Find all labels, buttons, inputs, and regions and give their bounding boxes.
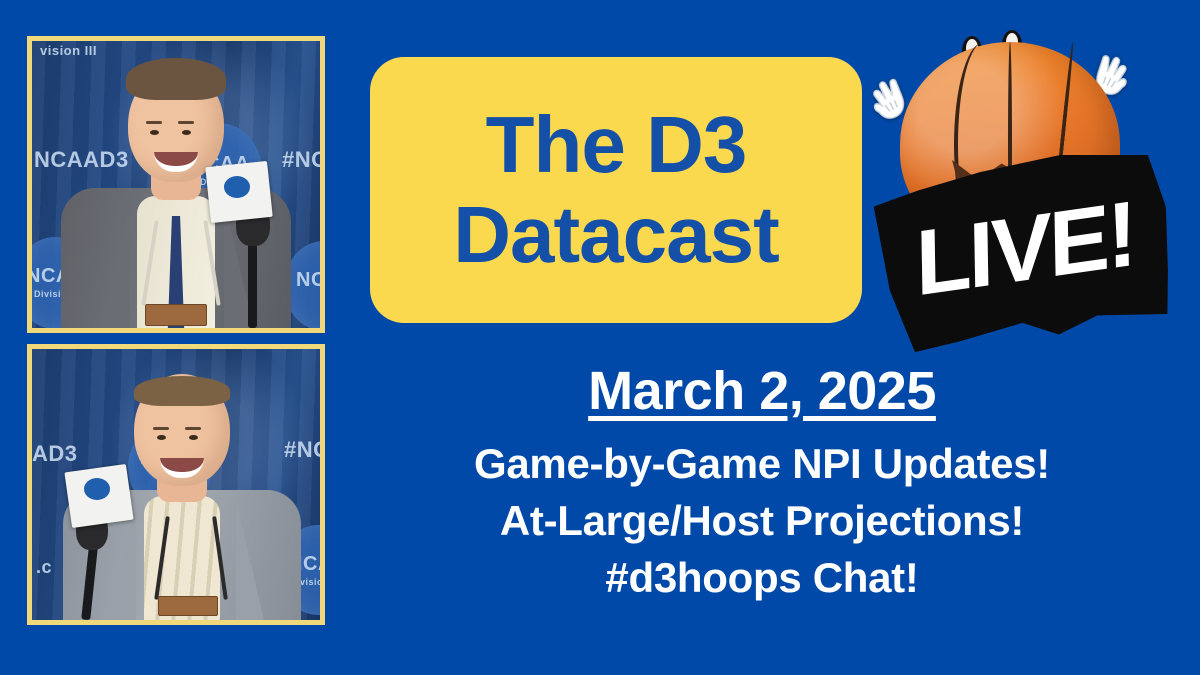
hair <box>134 376 230 406</box>
title-line-2: Datacast <box>453 196 779 274</box>
mic-stand <box>248 232 257 328</box>
eye-left <box>157 435 166 440</box>
credential-badge <box>158 596 218 616</box>
show-title-card: The D3 Datacast <box>370 57 862 323</box>
host-figure-bottom <box>32 349 320 620</box>
live-label: LIVE! <box>915 187 1135 310</box>
lapel-left <box>100 200 130 328</box>
pumpkin-live-badge-group: LIVE! <box>862 18 1200 348</box>
credential-badge <box>145 304 207 326</box>
mic-ncaa-logo <box>224 176 250 198</box>
event-info-block: March 2, 2025 Game-by-Game NPI Updates! … <box>352 360 1172 602</box>
mic-ncaa-logo <box>84 478 110 500</box>
brow-right <box>178 121 194 125</box>
info-line-3: #d3hoops Chat! <box>352 554 1172 602</box>
info-line-2: At-Large/Host Projections! <box>352 497 1172 545</box>
event-date: March 2, 2025 <box>352 360 1172 422</box>
info-line-1: Game-by-Game NPI Updates! <box>352 440 1172 488</box>
brow-left <box>153 427 169 431</box>
host-photo-bottom: NCAA NCAA Division III AD3 #NC .c <box>27 344 325 625</box>
lapel-right <box>236 500 264 620</box>
eye-left <box>150 130 159 135</box>
promo-graphic: vision III NCAA Division III NCAA Divisi… <box>0 0 1200 675</box>
eye-right <box>182 130 191 135</box>
host-figure-top <box>32 41 320 328</box>
eye-right <box>189 435 198 440</box>
title-line-1: The D3 <box>486 106 747 184</box>
host-photo-top: vision III NCAA Division III NCAA Divisi… <box>27 36 325 333</box>
hair <box>126 58 226 100</box>
brow-left <box>146 121 162 125</box>
brow-right <box>185 427 201 431</box>
